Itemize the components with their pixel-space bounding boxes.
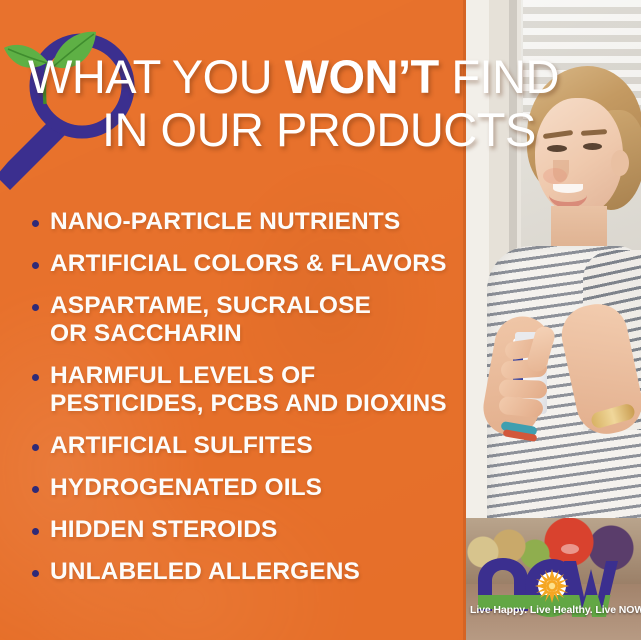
list-item: NANO-PARTICLE NUTRIENTS	[28, 208, 468, 236]
bullet-dot-icon	[32, 304, 39, 311]
headline-suffix: FIND	[439, 50, 559, 103]
brand-tagline: Live Happy. Live Healthy. Live NOW.	[470, 604, 630, 616]
list-item-label: HARMFUL LEVELS OF PESTICIDES, PCBS AND D…	[50, 362, 447, 418]
bullet-dot-icon	[32, 444, 39, 451]
list-item-label: ARTIFICIAL SULFITES	[50, 432, 313, 460]
photo-smile	[549, 182, 587, 208]
page-title: WHAT YOU WON’T FIND IN OUR PRODUCTS	[28, 50, 628, 156]
list-item-label: HIDDEN STEROIDS	[50, 516, 277, 544]
list-item-label: ASPARTAME, SUCRALOSE OR SACCHARIN	[50, 292, 371, 348]
poster: WHAT YOU WON’T FIND IN OUR PRODUCTS NANO…	[0, 0, 641, 640]
exclusion-list: NANO-PARTICLE NUTRIENTS ARTIFICIAL COLOR…	[28, 208, 468, 600]
list-item-label: UNLABELED ALLERGENS	[50, 558, 360, 586]
list-item: HARMFUL LEVELS OF PESTICIDES, PCBS AND D…	[28, 362, 468, 418]
headline-line-2: IN OUR PRODUCTS	[28, 103, 628, 156]
list-item: HIDDEN STEROIDS	[28, 516, 468, 544]
list-item-label: ARTIFICIAL COLORS & FLAVORS	[50, 250, 447, 278]
sun-icon	[535, 569, 569, 603]
headline-line-1: WHAT YOU WON’T FIND	[28, 50, 628, 103]
bullet-dot-icon	[32, 374, 39, 381]
list-item-label: HYDROGENATED OILS	[50, 474, 322, 502]
list-item: ARTIFICIAL SULFITES	[28, 432, 468, 460]
list-item: UNLABELED ALLERGENS	[28, 558, 468, 586]
headline-prefix: WHAT YOU	[28, 50, 285, 103]
bullet-dot-icon	[32, 262, 39, 269]
list-item-label: NANO-PARTICLE NUTRIENTS	[50, 208, 400, 236]
bullet-dot-icon	[32, 220, 39, 227]
list-item: ASPARTAME, SUCRALOSE OR SACCHARIN	[28, 292, 468, 348]
bullet-dot-icon	[32, 528, 39, 535]
list-item: HYDROGENATED OILS	[28, 474, 468, 502]
bullet-dot-icon	[32, 486, 39, 493]
list-item: ARTIFICIAL COLORS & FLAVORS	[28, 250, 468, 278]
bullet-dot-icon	[32, 570, 39, 577]
headline-emphasis: WON’T	[285, 50, 439, 103]
